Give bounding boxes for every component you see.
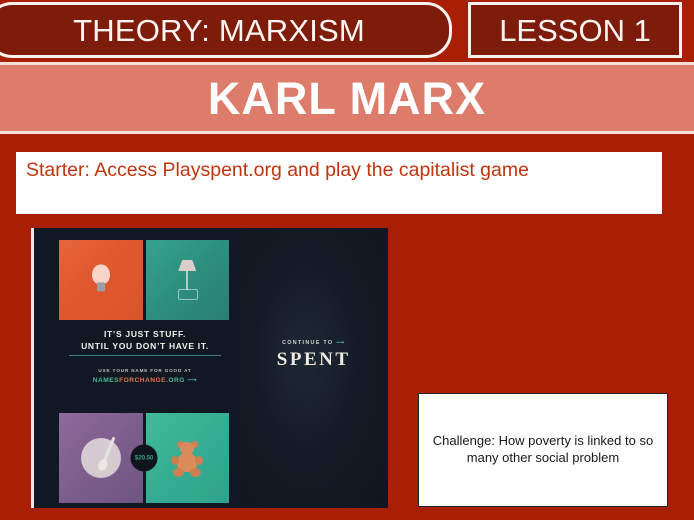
- price-badge: $20.50: [131, 445, 158, 472]
- band-divider-bottom: [0, 131, 694, 134]
- bear-leg-right: [190, 468, 201, 477]
- lightbulb-glass: [92, 264, 110, 284]
- tagline-underline: [69, 355, 221, 357]
- plate-icon: [81, 438, 121, 478]
- spent-logo-panel: CONTINUE TO ⟶ SPENT: [239, 228, 388, 508]
- lamp-icon: [174, 260, 200, 300]
- spent-logo: SPENT: [239, 349, 388, 371]
- price-badge-label: $20.50: [135, 455, 154, 462]
- spent-subtext: USE YOUR NAME FOR GOOD AT NAMESFORCHANGE…: [52, 368, 238, 384]
- tagline-line-1: IT’S JUST STUFF.: [52, 328, 238, 340]
- domain-prefix: NAMES: [93, 377, 119, 384]
- theory-title-box: THEORY: MARXISM: [0, 2, 452, 58]
- theory-title-label: THEORY: MARXISM: [73, 15, 365, 46]
- arrow-right-icon: ⟶: [336, 340, 345, 346]
- tile-grid-bottom: $20.50: [59, 413, 229, 503]
- teddy-bear-tile: [146, 413, 230, 503]
- arrow-right-icon-small: ⟶: [187, 377, 197, 384]
- starter-text: Starter: Access Playspent.org and play t…: [26, 158, 652, 182]
- lamp-tile: [146, 240, 230, 320]
- domain-suffix: .ORG: [166, 377, 185, 384]
- tagline-line-2: UNTIL YOU DON’T HAVE IT.: [52, 340, 238, 352]
- spent-tagline: IT’S JUST STUFF. UNTIL YOU DON’T HAVE IT…: [52, 328, 238, 356]
- continue-to-spent[interactable]: CONTINUE TO ⟶ SPENT: [239, 340, 388, 371]
- tile-grid-top: [59, 240, 229, 320]
- title-band: KARL MARX: [0, 65, 694, 131]
- lamp-stem: [186, 271, 188, 290]
- continue-label: CONTINUE TO ⟶: [239, 340, 388, 346]
- bear-arm-left: [171, 456, 179, 465]
- bear-leg-left: [173, 468, 184, 477]
- challenge-text: Challenge: How poverty is linked to so m…: [431, 433, 655, 467]
- lightbulb-tile: [59, 240, 143, 320]
- lightbulb-base: [97, 282, 105, 291]
- subtext-line-1: USE YOUR NAME FOR GOOD AT: [52, 368, 238, 373]
- challenge-text-box: Challenge: How poverty is linked to so m…: [418, 393, 668, 507]
- teddy-bear-icon: [171, 442, 203, 478]
- starter-text-box: Starter: Access Playspent.org and play t…: [16, 152, 662, 214]
- lesson-number-label: LESSON 1: [499, 15, 651, 46]
- page-title: KARL MARX: [208, 76, 486, 121]
- bear-arm-right: [195, 456, 203, 465]
- domain-highlight: FORCHANGE: [119, 377, 166, 384]
- lamp-foot: [178, 289, 198, 300]
- lamp-shade: [178, 260, 196, 271]
- header-row: THEORY: MARXISM LESSON 1: [0, 0, 694, 62]
- namesforchange-link[interactable]: NAMESFORCHANGE.ORG ⟶: [52, 376, 238, 384]
- lesson-number-box: LESSON 1: [468, 2, 682, 58]
- spent-left-panel: IT’S JUST STUFF. UNTIL YOU DON’T HAVE IT…: [34, 228, 246, 508]
- lightbulb-icon: [89, 264, 113, 294]
- spent-game-screenshot[interactable]: CONTINUE TO ⟶ SPENT IT’S JUST STUFF.: [31, 228, 388, 508]
